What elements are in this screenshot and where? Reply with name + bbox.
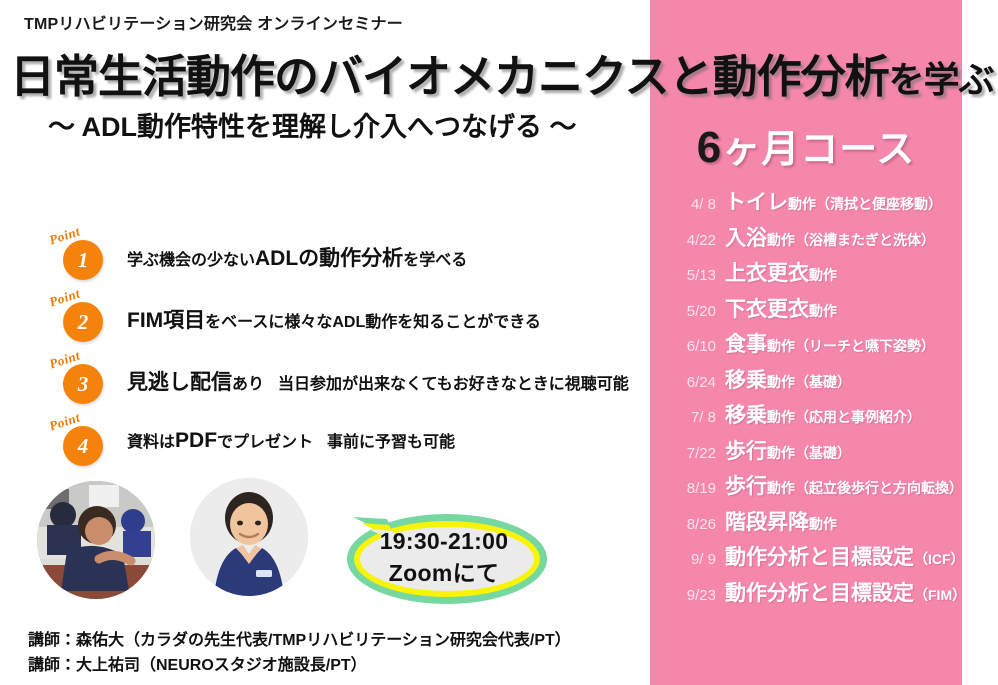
schedule-detail: 動作（基礎） [767, 374, 851, 390]
schedule-row: 6/10食事動作（リーチと嚥下姿勢） [650, 328, 962, 364]
schedule-date: 9/23 [664, 587, 716, 604]
point-text-emphasis: 見逃し配信 [127, 371, 232, 394]
page-title-main: 日常生活動作のバイオメカニクスと動作分析 [10, 51, 889, 102]
point-text-tail: をベースに様々なADL動作を知ることができる [205, 314, 541, 331]
point-text-extra: 事前に予習も可能 [327, 434, 455, 451]
point-badge-number: 3 [63, 364, 103, 404]
point-badge: Point4 [45, 414, 107, 470]
schedule-date: 6/24 [664, 374, 716, 391]
point-text: FIM項目をベースに様々なADL動作を知ることができる [127, 304, 541, 334]
schedule-topic: トイレ [725, 191, 788, 214]
point-badge: Point3 [45, 352, 107, 408]
point-text-lead: 資料は [127, 434, 175, 451]
points-list: Point1学ぶ機会の少ないADLの動作分析を学べるPoint2FIM項目をベー… [45, 222, 645, 470]
time-bubble-text: 19:30-21:00 Zoomにて [335, 525, 553, 589]
schedule-topic: 移乗 [725, 369, 767, 392]
schedule-topic: 動作分析と目標設定 [725, 546, 914, 569]
schedule-detail: （FIM） [914, 587, 966, 603]
schedule-text: 動作分析と目標設定（ICF） [716, 541, 965, 571]
schedule-detail: 動作（起立後歩行と方向転換） [767, 480, 963, 496]
schedule-row: 9/23動作分析と目標設定（FIM） [650, 577, 962, 613]
point-badge: Point1 [45, 228, 107, 284]
schedule-row: 8/26階段昇降動作 [650, 506, 962, 542]
schedule-text: 移乗動作（基礎） [716, 364, 851, 394]
point-badge: Point2 [45, 290, 107, 346]
point-text-extra: 当日参加が出来なくてもお好きなときに視聴可能 [278, 376, 629, 393]
point-text: 資料はPDFでプレゼント事前に予習も可能 [127, 428, 455, 453]
schedule-row: 5/13上衣更衣動作 [650, 257, 962, 293]
schedule-topic: 下衣更衣 [725, 298, 809, 321]
course-duration-number: 6 [697, 123, 722, 172]
point-text: 学ぶ機会の少ないADLの動作分析を学べる [127, 242, 467, 272]
schedule-row: 4/ 8トイレ動作（清拭と便座移動） [650, 186, 962, 222]
point-text-emphasis: PDF [175, 429, 217, 452]
schedule-date: 4/ 8 [664, 196, 716, 213]
schedule-text: 歩行動作（基礎） [716, 435, 851, 465]
schedule-topic: 食事 [725, 333, 767, 356]
page-subtitle: ～ ADL動作特性を理解し介入へつなげる ～ [48, 105, 577, 144]
lecturer-photo-1 [37, 481, 155, 599]
schedule-detail: 動作（応用と事例紹介） [767, 409, 921, 425]
schedule-date: 7/22 [664, 445, 716, 462]
point-text-lead: 学ぶ機会の少ない [127, 252, 255, 269]
schedule-text: 入浴動作（浴槽またぎと洗体） [716, 222, 935, 252]
point-text: 見逃し配信あり当日参加が出来なくてもお好きなときに視聴可能 [127, 366, 629, 396]
schedule-text: 移乗動作（応用と事例紹介） [716, 399, 921, 429]
schedule-row: 4/22入浴動作（浴槽またぎと洗体） [650, 222, 962, 258]
lecturer-photo-1-image [37, 481, 155, 599]
time-bubble: 19:30-21:00 Zoomにて [335, 505, 553, 607]
organizer-eyebrow: TMPリハビリテーション研究会 オンラインセミナー [24, 10, 403, 34]
schedule-text: 階段昇降動作 [716, 506, 837, 536]
schedule-detail: 動作 [809, 303, 837, 319]
point-text-tail: でプレゼント [217, 434, 313, 451]
lecturer-credits: 講師：森佑大（カラダの先生代表/TMPリハビリテーション研究会代表/PT） 講師… [28, 628, 571, 678]
lecturer-photo-2 [190, 478, 308, 596]
point-item: Point4資料はPDFでプレゼント事前に予習も可能 [45, 408, 645, 470]
schedule-date: 7/ 8 [664, 409, 716, 426]
lecturer-photo-2-image [190, 478, 308, 596]
lecturer-credit-1: 講師：森佑大（カラダの先生代表/TMPリハビリテーション研究会代表/PT） [28, 628, 571, 653]
schedule-list: 4/ 8トイレ動作（清拭と便座移動）4/22入浴動作（浴槽またぎと洗体）5/13… [650, 186, 962, 612]
schedule-detail: 動作（リーチと嚥下姿勢） [767, 338, 935, 354]
schedule-text: 上衣更衣動作 [716, 257, 837, 287]
point-badge-number: 1 [63, 240, 103, 280]
point-item: Point1学ぶ機会の少ないADLの動作分析を学べる [45, 222, 645, 284]
point-item: Point2FIM項目をベースに様々なADL動作を知ることができる [45, 284, 645, 346]
schedule-date: 5/20 [664, 303, 716, 320]
schedule-date: 9/ 9 [664, 551, 716, 568]
schedule-date: 5/13 [664, 267, 716, 284]
schedule-date: 4/22 [664, 232, 716, 249]
schedule-topic: 歩行 [725, 440, 767, 463]
point-text-emphasis: FIM項目 [127, 309, 205, 332]
schedule-detail: 動作（基礎） [767, 445, 851, 461]
schedule-topic: 階段昇降 [725, 511, 809, 534]
session-platform: Zoomにて [335, 557, 553, 589]
point-text-tail: を学べる [403, 252, 467, 269]
schedule-text: 食事動作（リーチと嚥下姿勢） [716, 328, 935, 358]
point-badge-number: 4 [63, 426, 103, 466]
schedule-row: 5/20下衣更衣動作 [650, 293, 962, 329]
schedule-heading: 6ヶ月コース [650, 118, 962, 173]
schedule-date: 6/10 [664, 338, 716, 355]
schedule-topic: 上衣更衣 [725, 262, 809, 285]
point-text-tail: あり [232, 376, 264, 393]
session-time: 19:30-21:00 [335, 525, 553, 557]
schedule-row: 7/22歩行動作（基礎） [650, 435, 962, 471]
schedule-topic: 歩行 [725, 475, 767, 498]
point-item: Point3見逃し配信あり当日参加が出来なくてもお好きなときに視聴可能 [45, 346, 645, 408]
schedule-text: トイレ動作（清拭と便座移動） [716, 186, 942, 216]
schedule-topic: 動作分析と目標設定 [725, 582, 914, 605]
point-text-emphasis: ADLの動作分析 [255, 247, 403, 270]
schedule-text: 歩行動作（起立後歩行と方向転換） [716, 470, 963, 500]
schedule-text: 下衣更衣動作 [716, 293, 837, 323]
schedule-topic: 入浴 [725, 227, 767, 250]
schedule-row: 7/ 8移乗動作（応用と事例紹介） [650, 399, 962, 435]
schedule-detail: 動作（浴槽またぎと洗体） [767, 232, 935, 248]
page-title: 日常生活動作のバイオメカニクスと動作分析を学ぶ [10, 40, 994, 105]
schedule-date: 8/26 [664, 516, 716, 533]
schedule-detail: （ICF） [914, 551, 965, 567]
schedule-row: 6/24移乗動作（基礎） [650, 364, 962, 400]
point-badge-number: 2 [63, 302, 103, 342]
course-duration-unit: ヶ月コース [722, 129, 915, 171]
schedule-row: 8/19歩行動作（起立後歩行と方向転換） [650, 470, 962, 506]
lecturer-credit-2: 講師：大上祐司（NEUROスタジオ施設長/PT） [28, 653, 571, 678]
schedule-topic: 移乗 [725, 404, 767, 427]
schedule-detail: 動作 [809, 267, 837, 283]
schedule-date: 8/19 [664, 480, 716, 497]
page-title-tail: を学ぶ [889, 59, 994, 100]
schedule-detail: 動作 [809, 516, 837, 532]
schedule-text: 動作分析と目標設定（FIM） [716, 577, 966, 607]
schedule-detail: 動作（清拭と便座移動） [788, 196, 942, 212]
schedule-row: 9/ 9動作分析と目標設定（ICF） [650, 541, 962, 577]
